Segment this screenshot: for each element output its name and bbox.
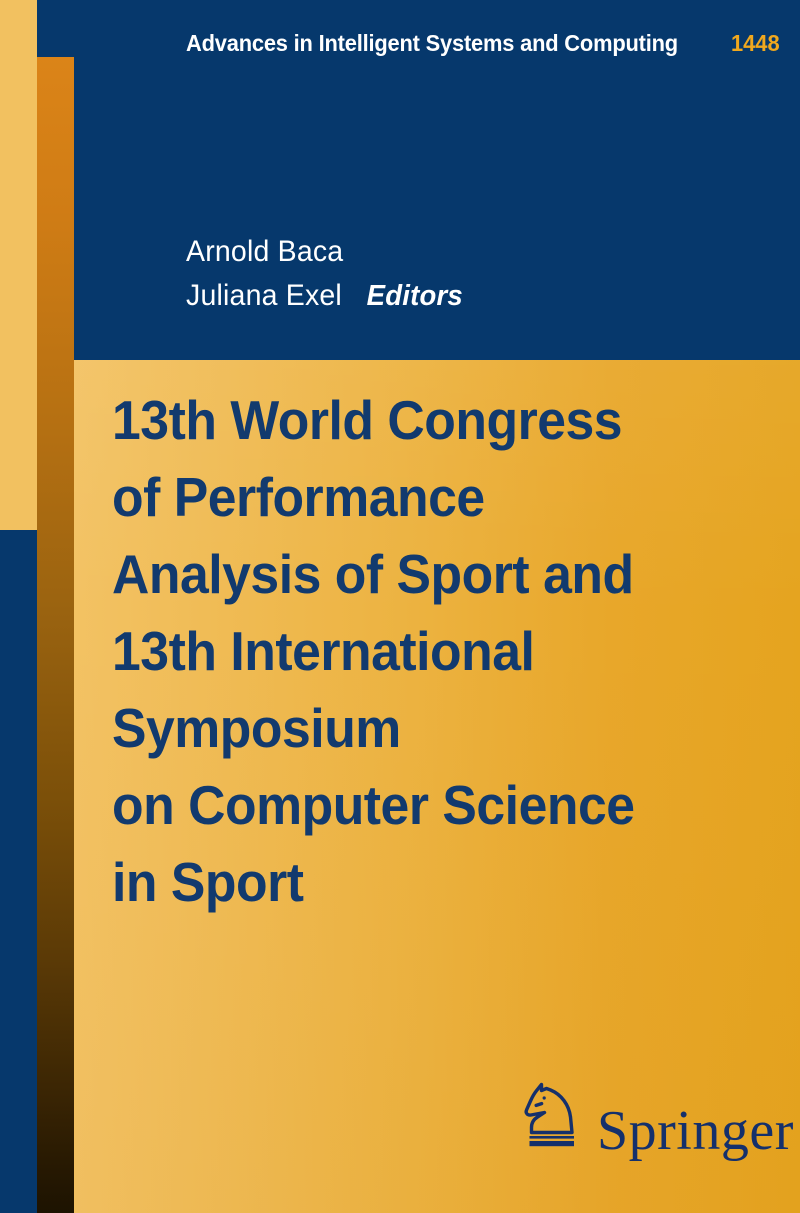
header-band: Advances in Intelligent Systems and Comp… — [74, 0, 800, 360]
series-title: Advances in Intelligent Systems and Comp… — [186, 30, 678, 57]
series-line: Advances in Intelligent Systems and Comp… — [186, 30, 783, 57]
editors-block: Arnold Baca Juliana ExelEditors — [186, 230, 477, 318]
editor-name-1: Arnold Baca — [186, 230, 463, 274]
title-line-7: in Sport — [112, 844, 676, 921]
editor-name-2: Juliana ExelEditors — [186, 274, 463, 318]
spine-gradient-band — [37, 57, 74, 1213]
publisher-name: Springer — [597, 1103, 794, 1159]
title-line-4: 13th International — [112, 613, 676, 690]
publisher-logo: Springer — [517, 1075, 794, 1153]
title-line-2: of Performance — [112, 459, 676, 536]
book-title: 13th World Congress of Performance Analy… — [112, 382, 712, 921]
title-line-3: Analysis of Sport and — [112, 536, 676, 613]
left-edge-strip-navy — [0, 530, 37, 1213]
book-cover: Advances in Intelligent Systems and Comp… — [0, 0, 800, 1213]
editors-role-label: Editors — [367, 280, 463, 312]
series-volume-number: 1448 — [731, 30, 780, 57]
title-line-6: on Computer Science — [112, 767, 676, 844]
left-edge-strip-gold — [0, 0, 37, 530]
editor-name-1-text: Arnold Baca — [186, 235, 343, 268]
springer-knight-icon — [517, 1075, 587, 1153]
editor-name-2-text: Juliana Exel — [186, 279, 342, 312]
title-line-1: 13th World Congress — [112, 382, 676, 459]
spine-band-navy-notch — [37, 0, 74, 57]
title-line-5: Symposium — [112, 690, 676, 767]
